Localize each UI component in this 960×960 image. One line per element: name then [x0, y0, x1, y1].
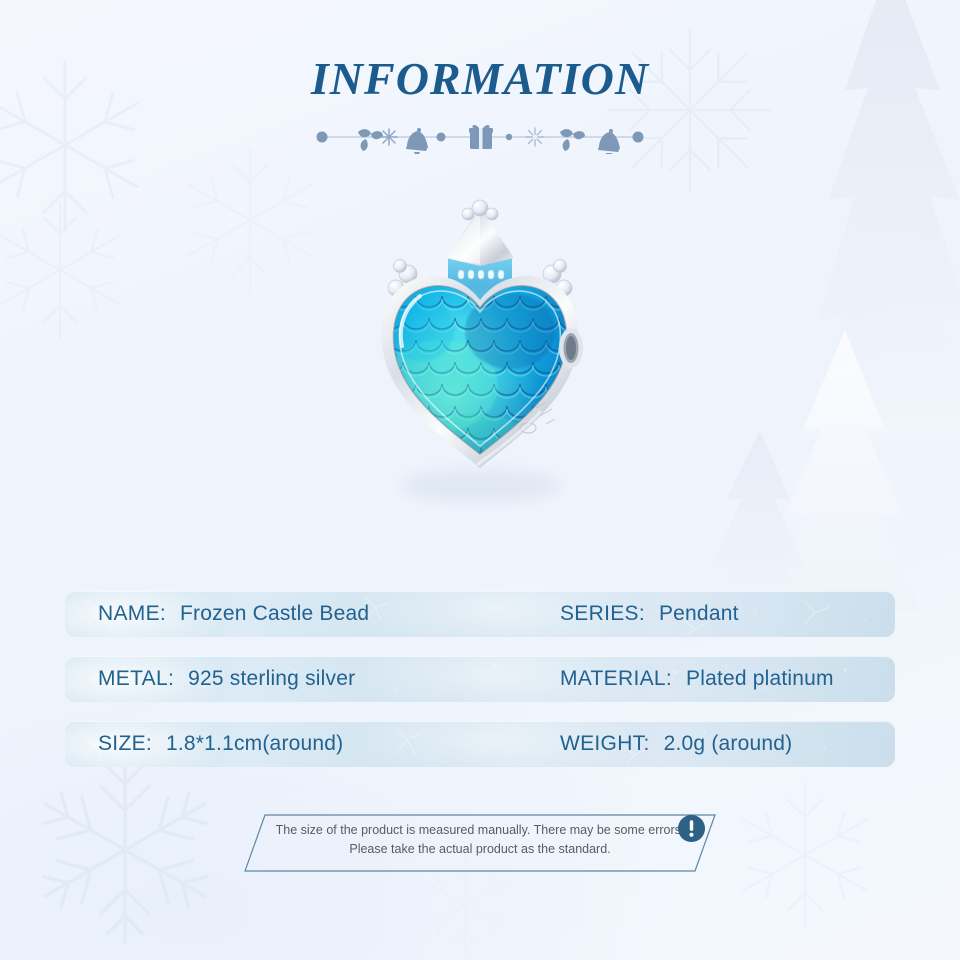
snowflake-icon [0, 180, 150, 360]
product-image [360, 196, 600, 536]
spec-value: 1.8*1.1cm(around) [166, 732, 343, 756]
page-title: INFORMATION [0, 56, 960, 102]
dot-icon [317, 132, 328, 143]
spec-label: NAME: [98, 602, 166, 626]
snowflake-icon [381, 129, 397, 145]
holly-icon [358, 129, 383, 151]
snowflake-icon [710, 760, 900, 950]
spec-cell-series: SERIES: Pendant [560, 591, 739, 637]
spec-cell-metal: METAL: 925 sterling silver [98, 656, 355, 702]
bell-icon [406, 128, 428, 154]
dot-icon [633, 132, 644, 143]
disclaimer-line-1: The size of the product is measured manu… [265, 821, 695, 840]
spec-value: 2.0g (around) [664, 732, 793, 756]
spec-value: 925 sterling silver [188, 667, 355, 691]
disclaimer-line-2: Please take the actual product as the st… [265, 840, 695, 859]
bead-hole [559, 328, 583, 368]
disclaimer-text: The size of the product is measured manu… [265, 821, 695, 859]
holly-icon [560, 129, 585, 151]
page-header: INFORMATION [0, 56, 960, 154]
table-row: SIZE: 1.8*1.1cm(around) WEIGHT: 2.0g (ar… [65, 721, 895, 767]
dot-icon [437, 133, 446, 142]
gift-box-icon [469, 125, 493, 149]
spec-cell-material: MATERIAL: Plated platinum [560, 656, 834, 702]
spec-label: METAL: [98, 667, 174, 691]
spec-value: Frozen Castle Bead [180, 602, 369, 626]
product-information-page: INFORMATION [0, 0, 960, 960]
exclamation-badge-icon [677, 814, 706, 843]
disclaimer-note: The size of the product is measured manu… [243, 812, 717, 874]
table-row: METAL: 925 sterling silver MATERIAL: Pla… [65, 656, 895, 702]
table-row: NAME: Frozen Castle Bead SERIES: Pendant [65, 591, 895, 637]
spec-label: SIZE: [98, 732, 152, 756]
spec-label: SERIES: [560, 602, 645, 626]
snowflake-outline-icon [526, 128, 544, 146]
spec-cell-weight: WEIGHT: 2.0g (around) [560, 721, 792, 767]
small-dot-icon [506, 134, 512, 140]
spec-value: Plated platinum [686, 667, 834, 691]
bell-icon [598, 129, 620, 154]
decorative-divider [310, 120, 650, 154]
spec-label: MATERIAL: [560, 667, 672, 691]
spec-cell-size: SIZE: 1.8*1.1cm(around) [98, 721, 343, 767]
spec-value: Pendant [659, 602, 739, 626]
specification-table: NAME: Frozen Castle Bead SERIES: Pendant [65, 591, 895, 786]
spec-label: WEIGHT: [560, 732, 650, 756]
spec-cell-name: NAME: Frozen Castle Bead [98, 591, 369, 637]
